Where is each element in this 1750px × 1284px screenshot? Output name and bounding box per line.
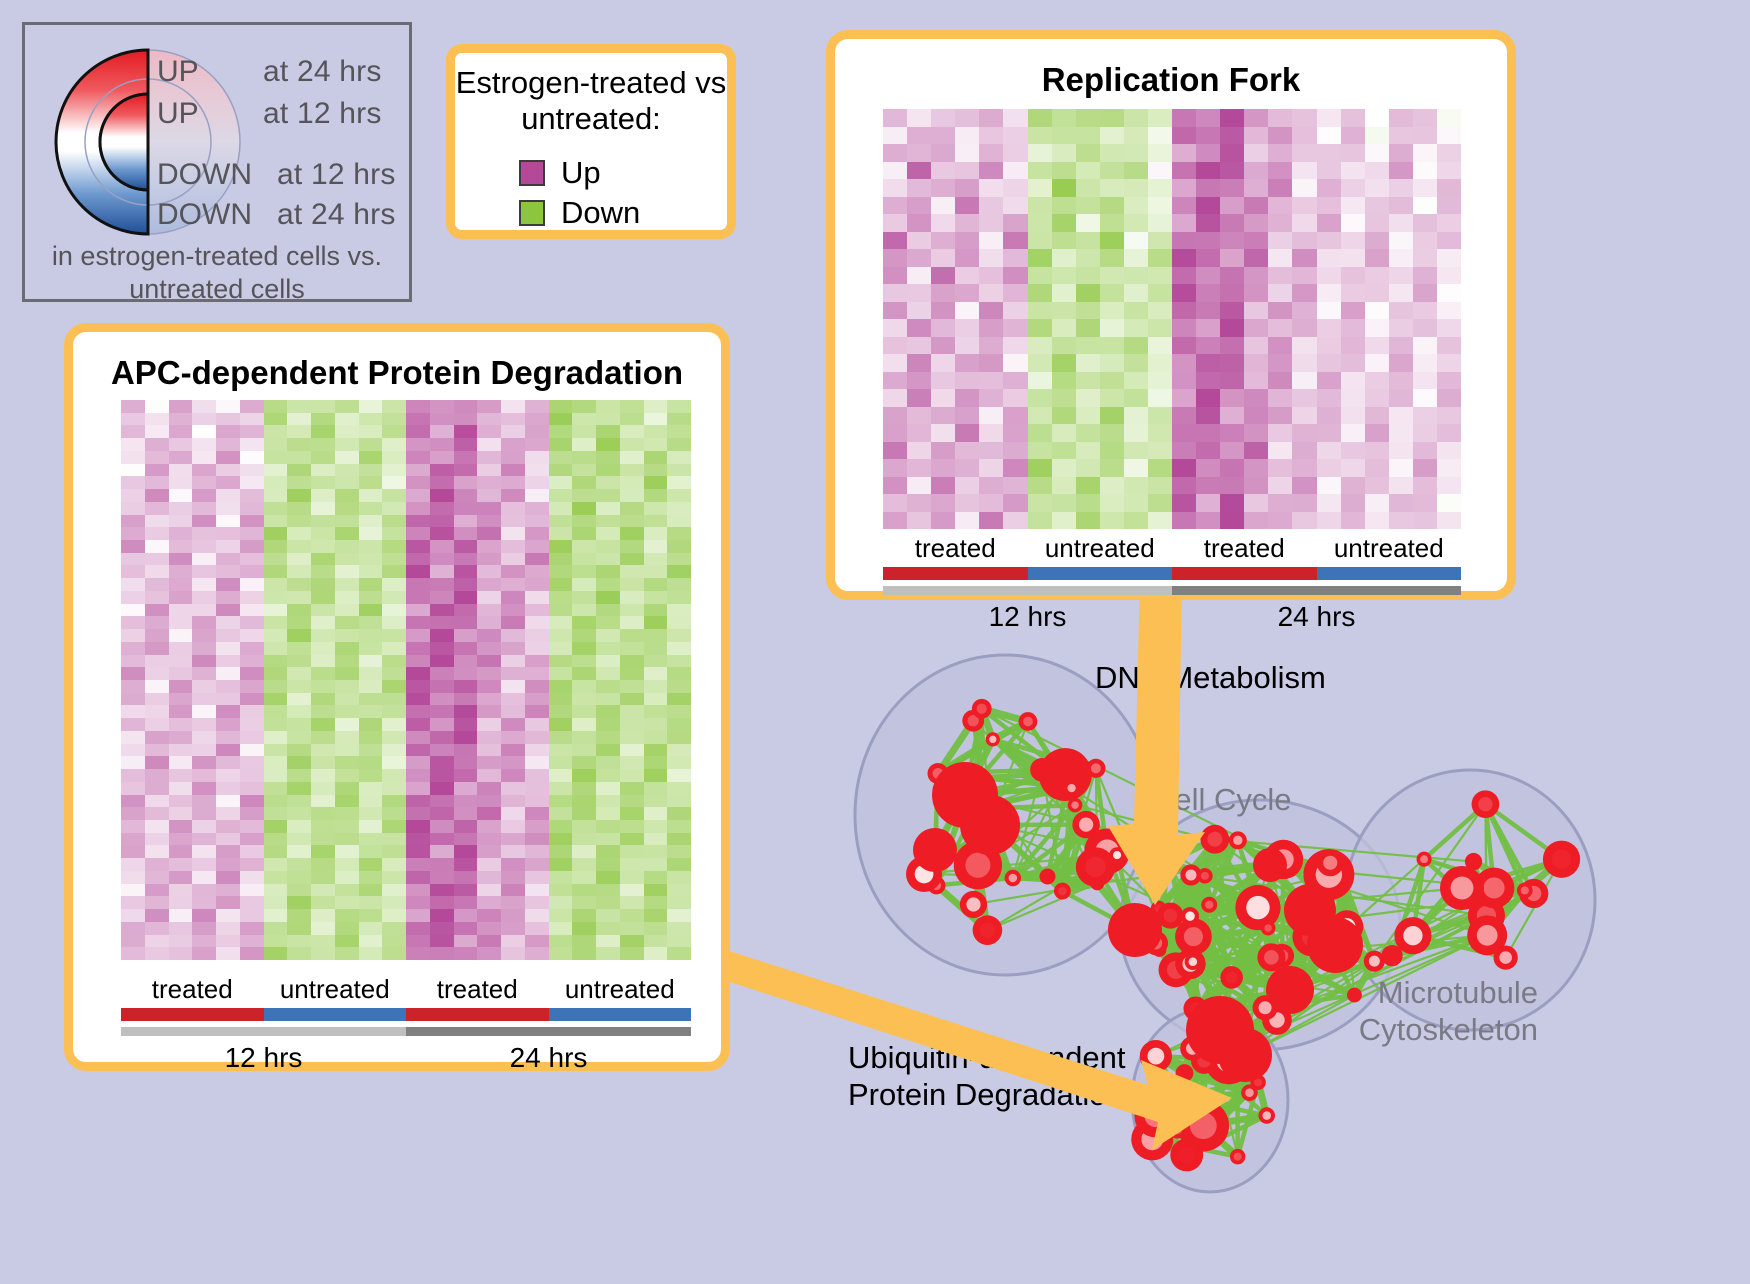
- condition-swatch-1: [1028, 567, 1173, 580]
- heatmap-replication-fork: [883, 109, 1461, 529]
- time-swatch-0: [883, 586, 1172, 595]
- time-label-1: 24 hrs: [406, 1042, 691, 1074]
- time-bar-apc: [121, 1027, 691, 1036]
- condition-label-0: treated: [121, 974, 264, 1005]
- arrow-apc: [712, 948, 1232, 1150]
- time-labels-replication-fork: 12 hrs24 hrs: [883, 601, 1461, 633]
- time-label-0: 12 hrs: [883, 601, 1172, 633]
- time-swatch-1: [406, 1027, 691, 1036]
- condition-label-0: treated: [883, 533, 1028, 564]
- panel-apc-degradation: APC-dependent Protein Degradation treate…: [64, 323, 730, 1071]
- panel-title-replication-fork: Replication Fork: [835, 61, 1507, 99]
- condition-labels-replication-fork: treateduntreatedtreateduntreated: [883, 533, 1461, 564]
- time-swatch-0: [121, 1027, 406, 1036]
- condition-label-3: untreated: [1317, 533, 1462, 564]
- time-bar-replication-fork: [883, 586, 1461, 595]
- condition-bar-replication-fork: [883, 567, 1461, 580]
- condition-label-1: untreated: [1028, 533, 1173, 564]
- heatmap-apc-degradation: [121, 400, 691, 960]
- figure-canvas: UP at 24 hrs UP at 12 hrs DOWN at 12 hrs…: [0, 0, 1750, 1279]
- condition-labels-apc: treateduntreatedtreateduntreated: [121, 974, 691, 1005]
- time-swatch-1: [1172, 586, 1461, 595]
- condition-bar-apc: [121, 1008, 691, 1021]
- condition-swatch-3: [549, 1008, 692, 1021]
- condition-label-2: treated: [1172, 533, 1317, 564]
- condition-label-3: untreated: [549, 974, 692, 1005]
- condition-swatch-1: [264, 1008, 407, 1021]
- condition-label-2: treated: [406, 974, 549, 1005]
- time-labels-apc: 12 hrs24 hrs: [121, 1042, 691, 1074]
- panel-replication-fork: Replication Fork treateduntreatedtreated…: [826, 30, 1516, 600]
- condition-swatch-2: [1172, 567, 1317, 580]
- time-label-1: 24 hrs: [1172, 601, 1461, 633]
- condition-swatch-0: [121, 1008, 264, 1021]
- panel-title-apc: APC-dependent Protein Degradation: [73, 354, 721, 392]
- time-label-0: 12 hrs: [121, 1042, 406, 1074]
- condition-label-1: untreated: [264, 974, 407, 1005]
- condition-swatch-3: [1317, 567, 1462, 580]
- condition-swatch-2: [406, 1008, 549, 1021]
- condition-swatch-0: [883, 567, 1028, 580]
